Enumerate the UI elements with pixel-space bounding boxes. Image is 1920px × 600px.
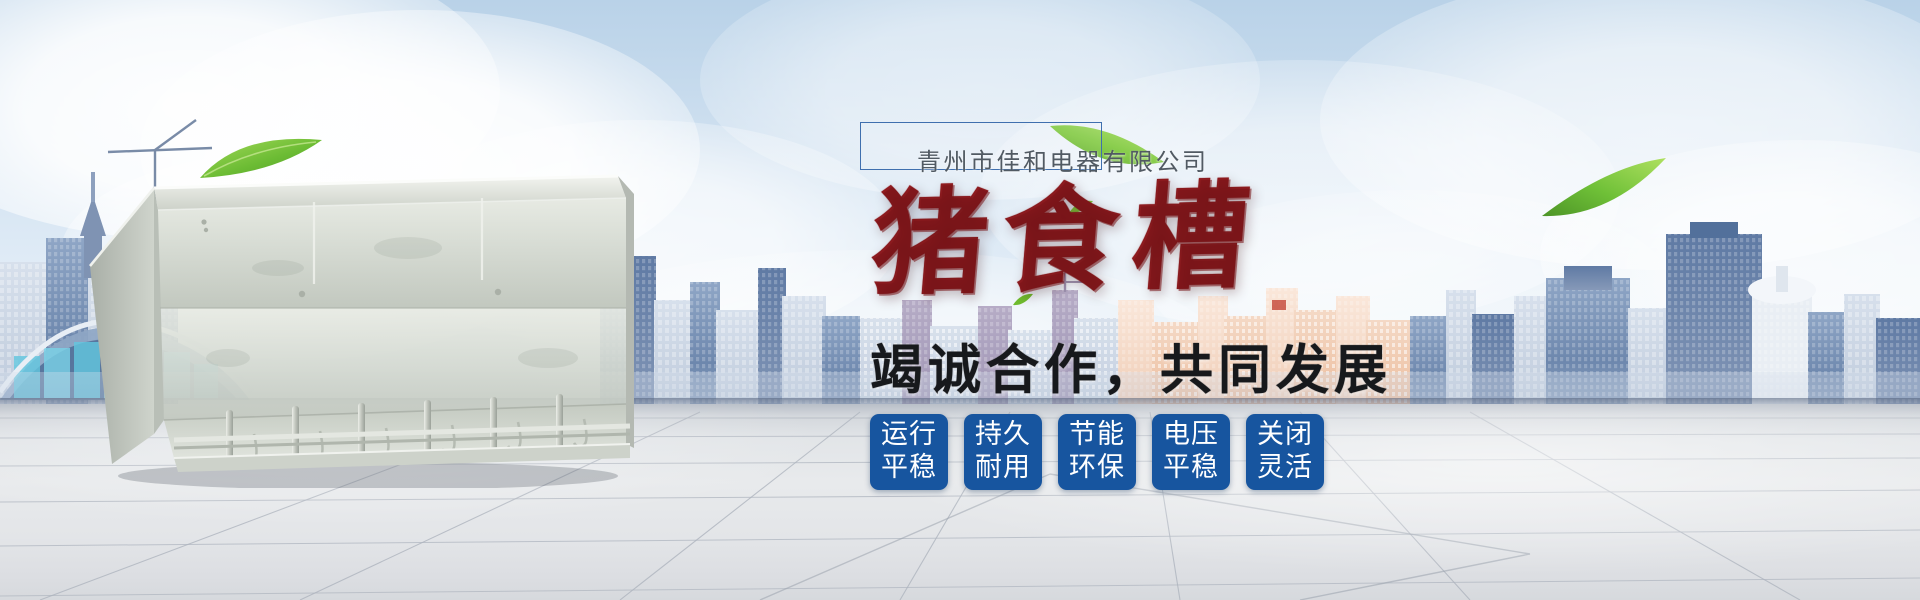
feature-badge-4-line1: 电压	[1163, 419, 1219, 452]
page-title: 猪食槽	[866, 176, 1267, 306]
feature-badge-list: 运行 平稳 持久 耐用 节能 环保 电压 平稳 关闭 灵活	[870, 414, 1324, 490]
feature-badge-4[interactable]: 电压 平稳	[1152, 414, 1230, 490]
feature-badge-1[interactable]: 运行 平稳	[870, 414, 948, 490]
feature-badge-3[interactable]: 节能 环保	[1058, 414, 1136, 490]
feature-badge-1-line2: 平稳	[881, 452, 937, 485]
slogan-subtitle: 竭诚合作，共同发展	[870, 328, 1392, 404]
feature-badge-2-line2: 耐用	[975, 452, 1031, 485]
feature-badge-4-line2: 平稳	[1163, 452, 1219, 485]
feature-badge-5[interactable]: 关闭 灵活	[1246, 414, 1324, 490]
feature-badge-3-line2: 环保	[1069, 452, 1125, 485]
leaf-decoration-left	[196, 126, 326, 186]
product-image-pig-feeding-trough	[78, 158, 638, 488]
feature-badge-5-line1: 关闭	[1257, 419, 1313, 452]
promo-banner: 青州市佳和电器有限公司 猪食槽 竭诚合作，共同发展 运行 平稳 持久 耐用 节能…	[0, 0, 1920, 600]
feature-badge-3-line1: 节能	[1069, 419, 1125, 452]
feature-badge-2-line1: 持久	[975, 419, 1031, 452]
leaf-decoration-right	[1538, 156, 1668, 222]
banner-content: 青州市佳和电器有限公司 猪食槽 竭诚合作，共同发展 运行 平稳 持久 耐用 节能…	[860, 96, 1480, 556]
feature-badge-5-line2: 灵活	[1257, 452, 1313, 485]
feature-badge-1-line1: 运行	[881, 419, 937, 452]
feature-badge-2[interactable]: 持久 耐用	[964, 414, 1042, 490]
